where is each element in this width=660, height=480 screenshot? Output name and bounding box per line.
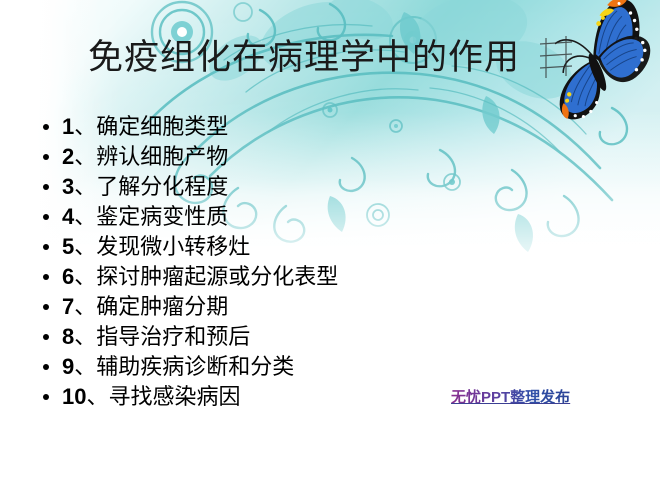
bullet-dot-icon — [43, 214, 49, 220]
list-item: 5、发现微小转移灶 — [36, 232, 596, 262]
bullet-dot-icon — [43, 274, 49, 280]
slide-title: 免疫组化在病理学中的作用 — [88, 36, 608, 80]
bullet-dot-icon — [43, 304, 49, 310]
list-item-number: 10 — [62, 384, 86, 409]
list-item-label: 鉴定病变性质 — [96, 204, 228, 229]
bullet-dot-icon — [43, 334, 49, 340]
list-item-separator: 、 — [74, 144, 96, 169]
list-item: 1、确定细胞类型 — [36, 112, 596, 142]
list-item-number: 2 — [62, 144, 74, 169]
presentation-slide: 免疫组化在病理学中的作用 1、确定细胞类型 2、辨认细胞产物 3、了解分化程度 … — [0, 0, 660, 480]
list-item: 9、辅助疾病诊断和分类 — [36, 352, 596, 382]
list-item: 8、指导治疗和预后 — [36, 322, 596, 352]
list-item: 2、辨认细胞产物 — [36, 142, 596, 172]
list-item-label: 确定细胞类型 — [96, 114, 228, 139]
list-item-number: 6 — [62, 264, 74, 289]
list-item-label: 辨认细胞产物 — [96, 144, 228, 169]
list-item-number: 3 — [62, 174, 74, 199]
bullet-dot-icon — [43, 364, 49, 370]
list-item: 6、探讨肿瘤起源或分化表型 — [36, 262, 596, 292]
list-item-label: 发现微小转移灶 — [96, 234, 250, 259]
bullet-dot-icon — [43, 394, 49, 400]
list-item-label: 指导治疗和预后 — [96, 324, 250, 349]
list-item: 4、鉴定病变性质 — [36, 202, 596, 232]
list-item-separator: 、 — [74, 324, 96, 349]
list-item-label: 了解分化程度 — [96, 174, 228, 199]
bullet-dot-icon — [43, 124, 49, 130]
list-item-label: 确定肿瘤分期 — [96, 294, 228, 319]
list-item-separator: 、 — [74, 174, 96, 199]
bullet-list: 1、确定细胞类型 2、辨认细胞产物 3、了解分化程度 4、鉴定病变性质 5、发现… — [36, 112, 596, 412]
list-item-number: 9 — [62, 354, 74, 379]
watermark-text: 无忧PPT整理发布 — [451, 386, 570, 407]
list-item-number: 1 — [62, 114, 74, 139]
list-item-separator: 、 — [74, 204, 96, 229]
list-item-separator: 、 — [74, 264, 96, 289]
list-item: 7、确定肿瘤分期 — [36, 292, 596, 322]
list-item-label: 探讨肿瘤起源或分化表型 — [96, 264, 338, 289]
list-item-number: 5 — [62, 234, 74, 259]
list-item-separator: 、 — [74, 354, 96, 379]
list-item-label: 辅助疾病诊断和分类 — [96, 354, 294, 379]
list-item-separator: 、 — [74, 234, 96, 259]
list-item-separator: 、 — [74, 294, 96, 319]
bullet-dot-icon — [43, 184, 49, 190]
list-item-number: 8 — [62, 324, 74, 349]
list-item: 3、了解分化程度 — [36, 172, 596, 202]
list-item-separator: 、 — [86, 384, 108, 409]
list-item-separator: 、 — [74, 114, 96, 139]
bullet-dot-icon — [43, 244, 49, 250]
list-item-number: 4 — [62, 204, 74, 229]
list-item-number: 7 — [62, 294, 74, 319]
list-item-label: 寻找感染病因 — [109, 384, 241, 409]
bullet-dot-icon — [43, 154, 49, 160]
